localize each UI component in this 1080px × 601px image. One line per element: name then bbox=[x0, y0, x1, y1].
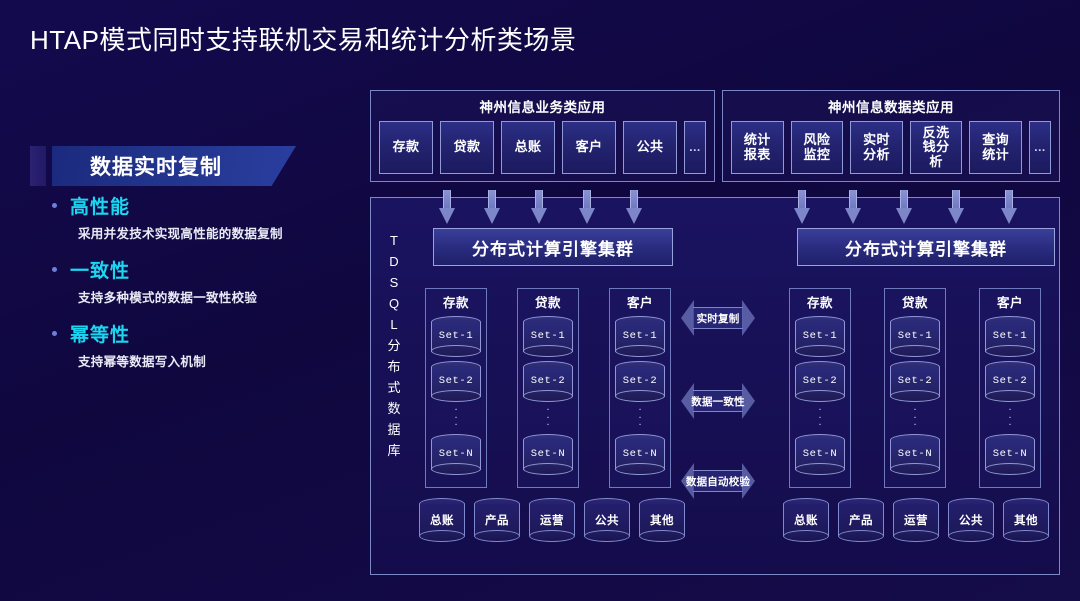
app-tile-more[interactable]: … bbox=[1029, 121, 1051, 174]
set-label: Set-2 bbox=[523, 372, 573, 390]
set-column-title: 客户 bbox=[980, 289, 1040, 311]
app-tile-row: 存款 贷款 总账 客户 公共 … bbox=[371, 116, 714, 182]
sync-arrow-label: 数据一致性 bbox=[681, 383, 755, 419]
bullet-dot-icon bbox=[52, 267, 57, 272]
vertical-ellipsis-icon: ... bbox=[610, 401, 670, 429]
sync-arrow-realtime-replication: 实时复制 bbox=[681, 300, 755, 336]
set-label: Set-2 bbox=[615, 372, 665, 390]
set-column: 客户 Set-1 Set-2 ... Set-N bbox=[609, 288, 671, 488]
flow-arrow-down-icon bbox=[845, 190, 861, 224]
vertical-label-char: Q bbox=[389, 293, 399, 314]
vertical-ellipsis-icon: ... bbox=[426, 401, 486, 429]
set-column: 存款 Set-1 Set-2 ... Set-N bbox=[789, 288, 851, 488]
flow-arrow-down-icon bbox=[626, 190, 642, 224]
bullet-desc: 采用并发技术实现高性能的数据复制 bbox=[78, 223, 352, 242]
tdsql-vertical-label: T D S Q L 分 布 式 数 据 库 bbox=[381, 230, 407, 462]
vertical-label-char: 据 bbox=[387, 419, 400, 440]
set-label: Set-2 bbox=[985, 372, 1035, 390]
slide-root: HTAP模式同时支持联机交易和统计分析类场景 数据实时复制 高性能 采用并发技术… bbox=[0, 0, 1080, 601]
flow-arrow-down-icon bbox=[439, 190, 455, 224]
bullet-head: 一致性 bbox=[52, 256, 352, 283]
set-column-title: 贷款 bbox=[518, 289, 578, 311]
set-label: Set-1 bbox=[890, 327, 940, 345]
vertical-label-char: 库 bbox=[387, 440, 400, 461]
set-cylinder: Set-2 bbox=[890, 361, 940, 401]
bottom-cylinder: 运营 bbox=[529, 498, 575, 542]
compute-engine-cluster-right: 分布式计算引擎集群 bbox=[797, 228, 1055, 266]
bottom-cylinder-label: 公共 bbox=[948, 510, 994, 530]
tdsql-main-panel: T D S Q L 分 布 式 数 据 库 分布式计算引擎集群 分布式计算引擎集… bbox=[370, 197, 1060, 575]
set-cylinder: Set-1 bbox=[431, 316, 481, 356]
app-tile[interactable]: 存款 bbox=[379, 121, 433, 174]
page-title: HTAP模式同时支持联机交易和统计分析类场景 bbox=[30, 20, 576, 57]
flow-arrow-down-icon bbox=[896, 190, 912, 224]
bottom-cylinder: 其他 bbox=[639, 498, 685, 542]
flow-arrow-down-icon bbox=[948, 190, 964, 224]
bottom-cylinder-label: 产品 bbox=[838, 510, 884, 530]
set-label: Set-2 bbox=[431, 372, 481, 390]
bottom-cylinder: 公共 bbox=[948, 498, 994, 542]
set-label: Set-N bbox=[890, 445, 940, 463]
set-cylinder: Set-N bbox=[795, 434, 845, 474]
bottom-cylinder-label: 运营 bbox=[529, 510, 575, 530]
feature-bullet-list: 高性能 采用并发技术实现高性能的数据复制 一致性 支持多种模式的数据一致性校验 … bbox=[52, 192, 352, 384]
vertical-ellipsis-icon: ... bbox=[518, 401, 578, 429]
vertical-ellipsis-icon: ... bbox=[790, 401, 850, 429]
set-column-title: 客户 bbox=[610, 289, 670, 311]
set-column: 客户 Set-1 Set-2 ... Set-N bbox=[979, 288, 1041, 488]
vertical-label-char: S bbox=[390, 272, 399, 293]
bottom-cylinder: 总账 bbox=[783, 498, 829, 542]
list-item: 一致性 支持多种模式的数据一致性校验 bbox=[52, 256, 352, 306]
vertical-label-char: L bbox=[390, 314, 397, 335]
set-column-title: 存款 bbox=[426, 289, 486, 311]
bullet-dot-icon bbox=[52, 203, 57, 208]
bottom-cylinder: 运营 bbox=[893, 498, 939, 542]
app-tile[interactable]: 查询统计 bbox=[969, 121, 1022, 174]
set-label: Set-N bbox=[985, 445, 1035, 463]
set-cylinder: Set-N bbox=[431, 434, 481, 474]
bottom-cylinder-label: 其他 bbox=[639, 510, 685, 530]
app-box-data: 神州信息数据类应用 统计报表 风险监控 实时分析 反洗钱分析 查询统计 … bbox=[722, 90, 1060, 182]
bottom-cylinder-label: 其他 bbox=[1003, 510, 1049, 530]
app-tile[interactable]: 风险监控 bbox=[791, 121, 844, 174]
bottom-cylinder-label: 公共 bbox=[584, 510, 630, 530]
app-tile-row: 统计报表 风险监控 实时分析 反洗钱分析 查询统计 … bbox=[723, 116, 1059, 182]
vertical-ellipsis-icon: ... bbox=[885, 401, 945, 429]
bottom-cylinder-label: 运营 bbox=[893, 510, 939, 530]
bullet-title: 一致性 bbox=[70, 256, 130, 283]
sync-arrow-label: 实时复制 bbox=[681, 300, 755, 336]
bottom-cylinder: 公共 bbox=[584, 498, 630, 542]
app-tile[interactable]: 总账 bbox=[501, 121, 555, 174]
set-label: Set-1 bbox=[795, 327, 845, 345]
set-column: 存款 Set-1 Set-2 ... Set-N bbox=[425, 288, 487, 488]
app-tile[interactable]: 反洗钱分析 bbox=[910, 121, 963, 174]
set-cylinder: Set-1 bbox=[890, 316, 940, 356]
bullet-dot-icon bbox=[52, 331, 57, 336]
set-label: Set-2 bbox=[890, 372, 940, 390]
set-cylinder: Set-N bbox=[985, 434, 1035, 474]
flow-arrow-down-icon bbox=[1001, 190, 1017, 224]
set-cylinder: Set-2 bbox=[615, 361, 665, 401]
sync-arrow-data-consistency: 数据一致性 bbox=[681, 383, 755, 419]
set-cylinder: Set-1 bbox=[795, 316, 845, 356]
bottom-cylinder-label: 总账 bbox=[419, 510, 465, 530]
app-tile[interactable]: 统计报表 bbox=[731, 121, 784, 174]
flow-arrow-down-icon bbox=[484, 190, 500, 224]
flow-arrow-down-icon bbox=[531, 190, 547, 224]
bullet-title: 高性能 bbox=[70, 192, 130, 219]
banner-stub bbox=[30, 146, 46, 186]
set-cylinder: Set-N bbox=[890, 434, 940, 474]
vertical-ellipsis-icon: ... bbox=[980, 401, 1040, 429]
left-panel-banner: 数据实时复制 bbox=[30, 146, 296, 186]
set-label: Set-N bbox=[615, 445, 665, 463]
vertical-label-char: 式 bbox=[387, 377, 400, 398]
bottom-cylinder: 总账 bbox=[419, 498, 465, 542]
app-box-business: 神州信息业务类应用 存款 贷款 总账 客户 公共 … bbox=[370, 90, 715, 182]
bottom-cylinder: 产品 bbox=[838, 498, 884, 542]
bottom-cylinder-label: 总账 bbox=[783, 510, 829, 530]
set-column: 贷款 Set-1 Set-2 ... Set-N bbox=[884, 288, 946, 488]
set-column: 贷款 Set-1 Set-2 ... Set-N bbox=[517, 288, 579, 488]
set-cylinder: Set-N bbox=[523, 434, 573, 474]
vertical-label-char: 布 bbox=[387, 356, 400, 377]
bottom-cylinder-row-right: 总账 产品 运营 公共 其他 bbox=[783, 498, 1049, 542]
vertical-label-char: D bbox=[389, 251, 398, 272]
set-label: Set-N bbox=[431, 445, 481, 463]
app-tile[interactable]: 客户 bbox=[562, 121, 616, 174]
bottom-cylinder-label: 产品 bbox=[474, 510, 520, 530]
set-label: Set-N bbox=[523, 445, 573, 463]
set-cylinder: Set-2 bbox=[795, 361, 845, 401]
set-cylinder: Set-1 bbox=[985, 316, 1035, 356]
bullet-head: 幂等性 bbox=[52, 320, 352, 347]
set-column-title: 存款 bbox=[790, 289, 850, 311]
vertical-label-char: 分 bbox=[387, 335, 400, 356]
app-tile[interactable]: 公共 bbox=[623, 121, 677, 174]
set-cylinder: Set-2 bbox=[523, 361, 573, 401]
list-item: 幂等性 支持幂等数据写入机制 bbox=[52, 320, 352, 370]
app-box-title: 神州信息业务类应用 bbox=[371, 91, 714, 116]
banner-label: 数据实时复制 bbox=[90, 146, 222, 186]
set-cylinder: Set-1 bbox=[523, 316, 573, 356]
sync-arrow-label: 数据自动校验 bbox=[681, 463, 755, 499]
sync-arrow-auto-verification: 数据自动校验 bbox=[681, 463, 755, 499]
set-label: Set-2 bbox=[795, 372, 845, 390]
flow-arrow-down-icon bbox=[579, 190, 595, 224]
bottom-cylinder: 产品 bbox=[474, 498, 520, 542]
compute-engine-cluster-left: 分布式计算引擎集群 bbox=[433, 228, 673, 266]
set-label: Set-1 bbox=[615, 327, 665, 345]
bullet-title: 幂等性 bbox=[70, 320, 130, 347]
set-label: Set-1 bbox=[431, 327, 481, 345]
set-label: Set-N bbox=[795, 445, 845, 463]
bullet-head: 高性能 bbox=[52, 192, 352, 219]
app-tile[interactable]: 贷款 bbox=[440, 121, 494, 174]
set-cylinder: Set-1 bbox=[615, 316, 665, 356]
set-cylinder: Set-2 bbox=[985, 361, 1035, 401]
list-item: 高性能 采用并发技术实现高性能的数据复制 bbox=[52, 192, 352, 242]
set-label: Set-1 bbox=[523, 327, 573, 345]
vertical-label-char: T bbox=[390, 230, 398, 251]
app-tile[interactable]: 实时分析 bbox=[850, 121, 903, 174]
bullet-desc: 支持多种模式的数据一致性校验 bbox=[78, 287, 352, 306]
app-tile-more[interactable]: … bbox=[684, 121, 706, 174]
bottom-cylinder: 其他 bbox=[1003, 498, 1049, 542]
vertical-label-char: 数 bbox=[387, 398, 400, 419]
app-box-title: 神州信息数据类应用 bbox=[723, 91, 1059, 116]
flow-arrow-down-icon bbox=[794, 190, 810, 224]
bullet-desc: 支持幂等数据写入机制 bbox=[78, 351, 352, 370]
set-column-title: 贷款 bbox=[885, 289, 945, 311]
bottom-cylinder-row-left: 总账 产品 运营 公共 其他 bbox=[419, 498, 685, 542]
set-cylinder: Set-N bbox=[615, 434, 665, 474]
set-label: Set-1 bbox=[985, 327, 1035, 345]
set-cylinder: Set-2 bbox=[431, 361, 481, 401]
